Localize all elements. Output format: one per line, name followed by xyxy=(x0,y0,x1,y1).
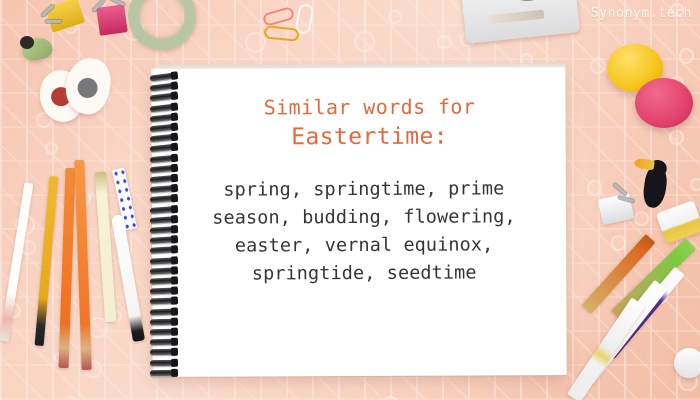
spiral-ring xyxy=(150,216,176,224)
spiral-ring xyxy=(150,298,176,305)
circuit-pad xyxy=(634,211,649,226)
bird-eraser-head xyxy=(20,36,34,49)
circuit-pad xyxy=(587,180,602,195)
paint-tube-cap xyxy=(674,348,700,378)
spiral-ring xyxy=(150,154,176,162)
spiral-ring xyxy=(150,72,177,81)
circuit-pad xyxy=(590,58,606,74)
spiral-ring xyxy=(150,359,176,365)
spiral-ring xyxy=(150,165,176,173)
macaron-pink xyxy=(635,78,693,128)
spiral-ring xyxy=(150,206,176,214)
spiral-ring xyxy=(150,247,176,254)
spiral-ring xyxy=(150,308,176,315)
spiral-ring xyxy=(150,185,176,193)
circuit-pad xyxy=(679,48,694,63)
screenshot-root: Similar words for Eastertime: spring, sp… xyxy=(0,0,700,400)
spiral-ring xyxy=(150,288,176,295)
spiral-ring xyxy=(150,370,176,376)
synonym-line: spring, springtime, prime xyxy=(174,175,554,205)
eraser-gray-center xyxy=(76,76,100,100)
spiral-ring xyxy=(150,83,177,92)
spiral-ring xyxy=(150,318,176,325)
toucan-sticker xyxy=(633,149,681,212)
circuit-pad xyxy=(437,35,452,50)
spiral-binding xyxy=(150,74,180,374)
circuit-pad xyxy=(388,10,402,24)
spiral-ring xyxy=(150,144,176,152)
spiral-ring xyxy=(150,257,176,264)
circuit-pad xyxy=(611,235,627,251)
binder-clip-pink xyxy=(96,4,128,36)
notebook-content: Similar words for Eastertime: spring, sp… xyxy=(151,67,566,377)
spiral-ring xyxy=(150,349,176,355)
spiral-ring xyxy=(150,267,176,274)
synonym-line: season, budding, flowering, xyxy=(174,203,554,233)
circuit-pad xyxy=(63,396,78,400)
circuit-pad xyxy=(669,130,684,145)
spiral-ring xyxy=(150,329,176,336)
spiral-ring xyxy=(150,195,176,203)
spiral-ring xyxy=(150,175,176,183)
circuit-pad xyxy=(382,396,400,400)
spiral-ring xyxy=(150,124,176,133)
synonym-list: spring, springtime, primeseason, budding… xyxy=(174,175,554,289)
spiral-ring xyxy=(150,93,177,102)
title-line-1: Similar words for xyxy=(191,94,547,121)
spiral-ring xyxy=(150,277,176,284)
title-line-2: Eastertime: xyxy=(192,122,548,153)
spiral-ring xyxy=(150,113,176,122)
camera-lens xyxy=(499,0,554,4)
site-watermark: Synonym.tech xyxy=(591,6,692,21)
synonym-line: springtide, seedtime xyxy=(174,259,554,289)
circuit-pad xyxy=(245,32,266,53)
notebook-title: Similar words for Eastertime: xyxy=(191,94,547,153)
spiral-ring xyxy=(150,226,176,234)
camera-grip xyxy=(488,10,545,25)
circuit-pad xyxy=(690,178,700,191)
spiral-ring xyxy=(150,103,177,112)
circuit-pad xyxy=(354,31,375,52)
spiral-ring xyxy=(150,339,176,346)
synonym-line: easter, vernal equinox, xyxy=(174,231,554,261)
circuit-pad xyxy=(45,142,58,155)
spiral-ring xyxy=(150,134,176,143)
spiral-ring xyxy=(150,236,176,244)
